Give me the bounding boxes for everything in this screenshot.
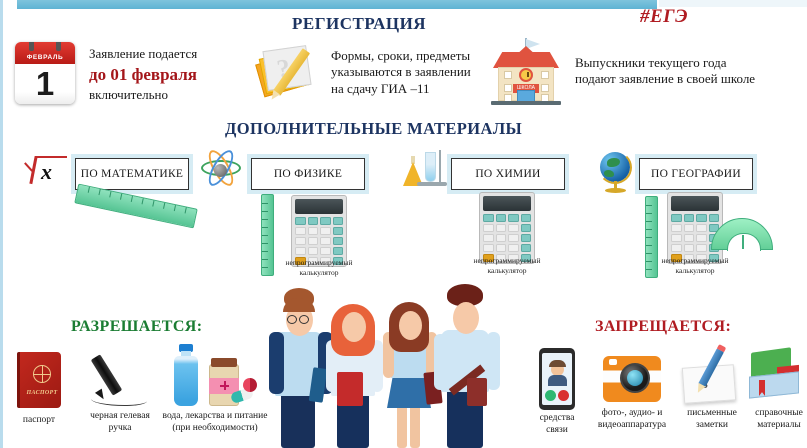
school-building-icon: ШКОЛА [489, 38, 563, 106]
atom-nucleus [214, 164, 227, 177]
ruler-icon [261, 194, 274, 276]
school-window [541, 84, 549, 92]
stand-rod [439, 150, 441, 184]
camera-icon [603, 356, 661, 402]
decline-call-icon [558, 390, 569, 401]
medical-cross-icon [220, 381, 229, 390]
forbidden-title: ЗАПРЕЩАЕТСЯ: [595, 318, 731, 336]
sqrt-bar [35, 156, 67, 158]
allowed-label-pen: черная гелевая ручка [76, 410, 164, 435]
globe-icon [597, 152, 637, 196]
passport-word: ПАСПОРТ [20, 390, 64, 396]
student-4 [431, 274, 501, 448]
passport-emblem-icon [33, 365, 51, 383]
school-window [504, 84, 512, 92]
materials-title: ДОПОЛНИТЕЛЬНЫЕ МАТЕРИАЛЫ [225, 119, 522, 139]
caller-body [548, 375, 567, 386]
deadline-line2: включительно [89, 87, 168, 102]
calendar-month: ФЕВРАЛЬ [15, 42, 75, 64]
forms-text-block: Формы, сроки, предметы указываются в зая… [331, 48, 471, 97]
square-root-x-icon: x [21, 152, 71, 190]
accept-call-icon [545, 390, 556, 401]
ege-hashtag: #ЕГЭ [640, 6, 688, 28]
calculator-keys [483, 214, 531, 262]
calculator-icon [291, 195, 347, 267]
student-3 [377, 286, 439, 448]
deadline-highlight: до 01 февраля [89, 64, 197, 85]
calendar-ring-left [29, 42, 34, 51]
stand-base [417, 182, 447, 186]
school-base [491, 101, 561, 105]
mobile-phone-icon [539, 348, 575, 410]
forbidden-label-camera: фото-, аудио- и видеоаппаратура [586, 407, 678, 432]
top-accent-bar [17, 0, 657, 9]
forbidden-label-books: справочные материалы [743, 407, 807, 432]
atom-icon [199, 152, 243, 192]
pen-barrel [91, 354, 123, 395]
written-notes-icon: § [679, 350, 741, 404]
globe-base [605, 188, 626, 193]
camera-flash [609, 359, 617, 365]
phone-screen [542, 353, 572, 405]
ruler-icon [74, 184, 197, 229]
calculator-icon [667, 192, 723, 264]
school-window [504, 71, 512, 79]
subject-box-chemistry[interactable]: ПО ХИМИИ [451, 158, 565, 190]
subject-box-geography[interactable]: ПО ГЕОГРАФИИ [639, 158, 753, 190]
deadline-line1: Заявление подается [89, 46, 197, 61]
globe-arc [598, 151, 632, 184]
subject-box-physics[interactable]: ПО ФИЗИКЕ [251, 158, 365, 190]
graduates-line1: Выпускники текущего года [575, 55, 755, 71]
graduates-line2: подают заявление в своей школе [575, 71, 755, 87]
forms-line1: Формы, сроки, предметы [331, 48, 471, 64]
calculator-caption: непрограммируемый калькулятор [650, 256, 740, 276]
passport-icon: ПАСПОРТ [17, 352, 61, 408]
sqrt-variable: x [41, 159, 52, 185]
graduates-text-block: Выпускники текущего года подают заявлени… [575, 55, 755, 88]
school-window [541, 71, 549, 79]
calculator-icon [479, 192, 535, 264]
calendar-icon: ФЕВРАЛЬ 1 [15, 42, 75, 104]
test-tube [425, 152, 436, 182]
medicine-icon [205, 356, 257, 408]
subject-box-math[interactable]: ПО МАТЕМАТИКЕ [75, 158, 189, 190]
bottle-body [174, 356, 198, 406]
forms-line2: указываются в заявлении [331, 64, 471, 80]
calculator-screen [483, 196, 531, 211]
allowed-title: РАЗРЕШАЕТСЯ: [71, 318, 202, 336]
tablet-icon [243, 378, 257, 392]
four-students-illustration [261, 272, 511, 448]
reference-books-icon [749, 350, 803, 404]
documents-pencil-icon: ? [255, 40, 321, 102]
forbidden-label-notes: письменные заметки [675, 407, 749, 432]
calculator-screen [295, 199, 343, 214]
registration-title: РЕГИСТРАЦИЯ [292, 14, 426, 34]
black-gel-pen-icon [91, 350, 149, 406]
roof [493, 52, 559, 68]
calendar-ring-right [56, 42, 61, 51]
forbidden-label-phone: средства связи [522, 412, 592, 437]
student-2 [323, 284, 385, 448]
clock-icon [519, 68, 533, 82]
allowed-label-passport: паспорт [7, 414, 71, 426]
camera-glass [627, 370, 643, 386]
deadline-text-block: Заявление подается до 01 февраля включит… [89, 46, 197, 103]
book-blue [749, 371, 799, 398]
allowed-label-water: вода, лекарства и питание (при необходим… [155, 410, 275, 435]
water-bottle-icon [171, 344, 201, 408]
forms-line3: на сдачу ГИА –11 [331, 81, 471, 97]
medicine-lid [211, 358, 237, 367]
calculator-screen [671, 196, 719, 211]
flag-icon [526, 39, 540, 49]
pen-stroke [91, 394, 147, 406]
chemistry-flask-icon [403, 148, 451, 194]
infographic-page: РЕГИСТРАЦИЯ #ЕГЭ ФЕВРАЛЬ 1 Заявление под… [0, 0, 807, 448]
calendar-day: 1 [15, 64, 75, 104]
